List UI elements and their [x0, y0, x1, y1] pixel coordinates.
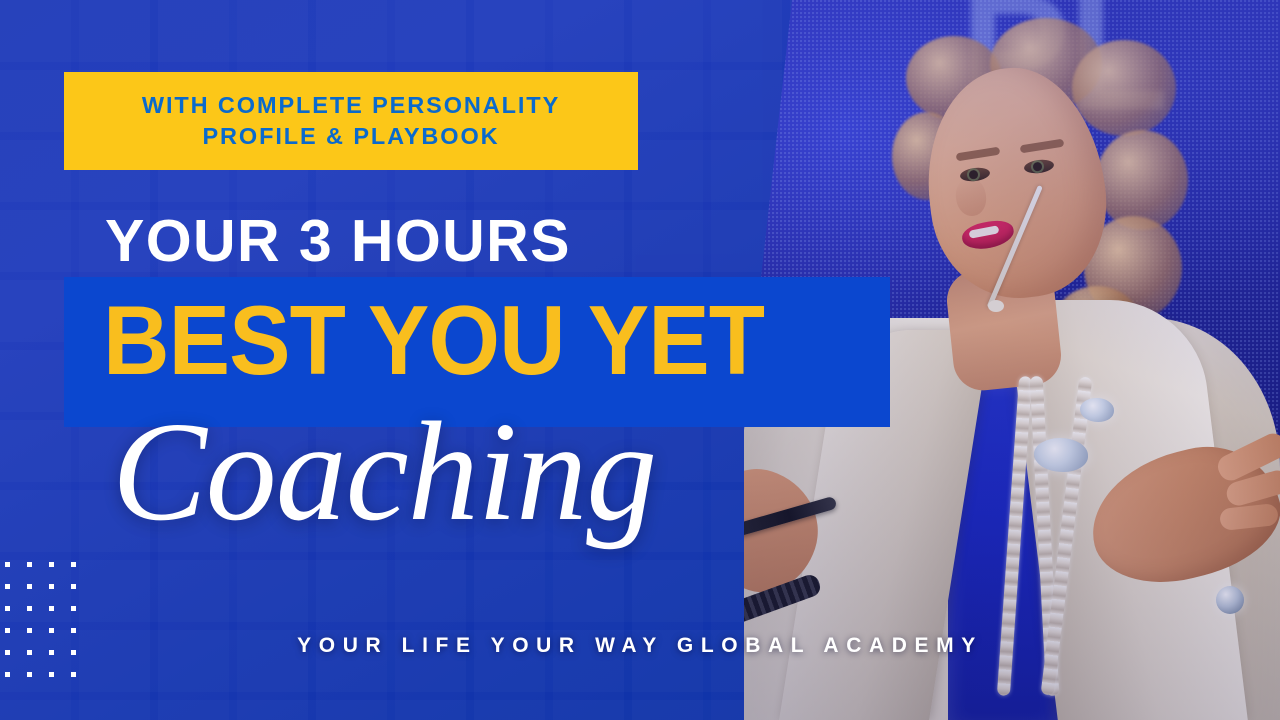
decorative-dot — [49, 606, 54, 611]
subheading-badge: WITH COMPLETE PERSONALITY PROFILE & PLAY… — [64, 72, 638, 170]
subheading-badge-text: WITH COMPLETE PERSONALITY PROFILE & PLAY… — [142, 90, 560, 153]
decorative-dot — [49, 628, 54, 633]
decorative-dot — [71, 562, 76, 567]
hair-curl — [1096, 130, 1188, 230]
headset-microphone-tip — [988, 300, 1004, 312]
decorative-dot — [49, 562, 54, 567]
decorative-dot — [27, 584, 32, 589]
hair-curl — [1072, 40, 1176, 136]
headline-line-2: BEST YOU YET — [103, 291, 764, 389]
decorative-dot — [27, 628, 32, 633]
decorative-dot — [5, 584, 10, 589]
decorative-dot — [27, 606, 32, 611]
decorative-dot-grid — [5, 562, 95, 680]
decorative-dot — [5, 606, 10, 611]
decorative-dot — [27, 562, 32, 567]
brand-tagline: YOUR LIFE YOUR WAY GLOBAL ACADEMY — [0, 634, 1280, 658]
ring-jewel — [1216, 586, 1244, 614]
promo-poster: PL O — [0, 0, 1280, 720]
decorative-dot — [71, 606, 76, 611]
script-word-coaching: Coaching — [112, 400, 656, 542]
decorative-dot — [49, 672, 54, 677]
headline-line-1: YOUR 3 HOURS — [105, 212, 571, 271]
decorative-dot — [49, 584, 54, 589]
decorative-dot — [71, 672, 76, 677]
crystal-brooch — [1034, 438, 1088, 472]
decorative-dot — [71, 628, 76, 633]
decorative-dot — [5, 628, 10, 633]
decorative-dot — [71, 584, 76, 589]
crystal-brooch-small — [1080, 398, 1114, 422]
decorative-dot — [5, 672, 10, 677]
decorative-dot — [5, 562, 10, 567]
decorative-dot — [27, 672, 32, 677]
